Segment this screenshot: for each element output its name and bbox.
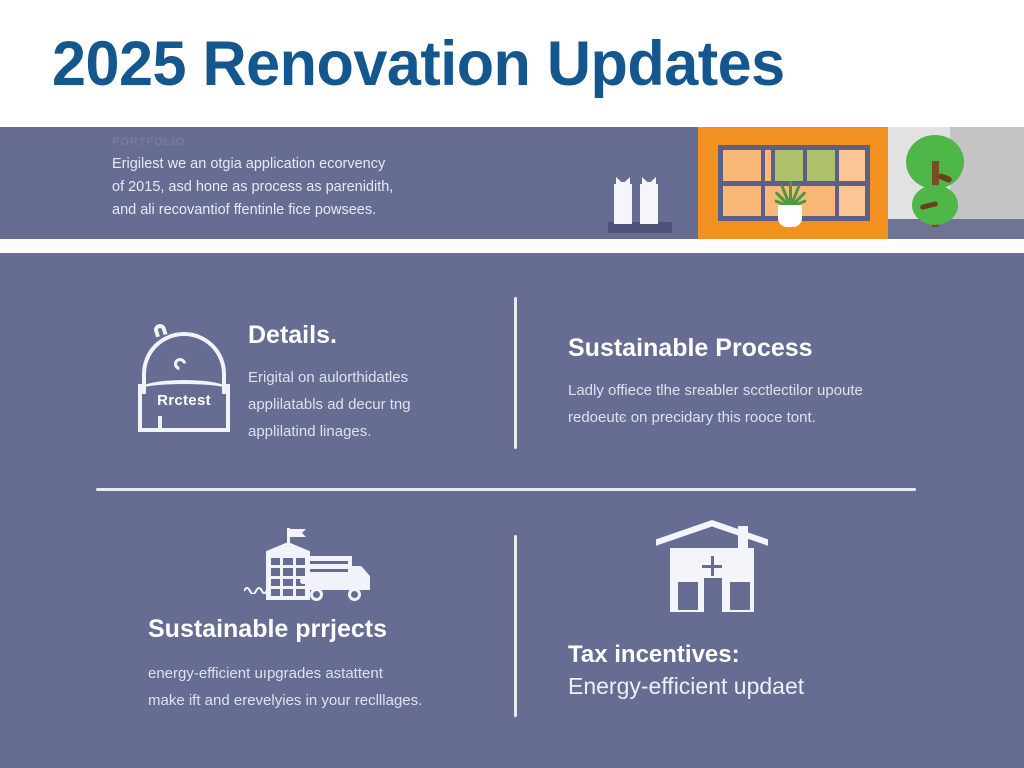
house-icon bbox=[656, 520, 768, 612]
card-process-body-line-1: Ladly offiece tlhe sreabler scctlectilor… bbox=[568, 377, 948, 404]
window-pane-green bbox=[775, 150, 803, 181]
building-windows bbox=[271, 558, 305, 596]
card-details-body-line-3: applilatind linages. bbox=[248, 418, 411, 445]
divider-horizontal bbox=[96, 488, 916, 491]
card-process-body: Ladly offiece tlhe sreabler scctlectilor… bbox=[568, 377, 948, 431]
window-pane bbox=[765, 150, 771, 181]
building-truck-icon bbox=[244, 528, 362, 606]
document-fold bbox=[158, 416, 162, 432]
card-details-heading: Details. bbox=[248, 320, 411, 350]
bottle-icon bbox=[614, 184, 632, 224]
house-window-left bbox=[678, 582, 698, 610]
card-details-body-line-1: Erigital on aulorthidatles bbox=[248, 364, 411, 391]
window-pane bbox=[839, 150, 865, 181]
truck-wheel-icon bbox=[348, 588, 361, 601]
card-projects-body: energy-efficient uıpgrades astattent mak… bbox=[148, 660, 498, 714]
banner-body: Erigilest we an otgia application ecorve… bbox=[112, 153, 532, 222]
wire-icon bbox=[244, 582, 270, 594]
divider-vertical-top bbox=[514, 297, 517, 449]
window-pane bbox=[839, 186, 865, 216]
dome-icon-label: Rrctest bbox=[134, 392, 234, 409]
banner-section: PORTFOLIO Erigilest we an otgia applicat… bbox=[0, 127, 1024, 239]
card-tax-subheading: Energy-efficient updaet bbox=[568, 670, 948, 702]
card-projects-body-line-1: energy-efficient uıpgrades astattent bbox=[148, 660, 498, 687]
banner-eyebrow: PORTFOLIO bbox=[112, 135, 532, 149]
card-projects-body-line-2: make ift and erevelyies in your reclllag… bbox=[148, 687, 498, 714]
window-pane bbox=[723, 150, 761, 181]
banner-body-line-3: and ali recovantiof ffentinle fiсe powse… bbox=[112, 199, 532, 222]
card-details-body-line-2: applilatabls ad decur tng bbox=[248, 391, 411, 418]
card-details-body: Erigital on aulorthidatles applilatabls … bbox=[248, 364, 411, 445]
card-projects-icon-wrap bbox=[244, 528, 498, 606]
card-projects-heading: Sustainable prrjects bbox=[148, 614, 498, 644]
dome-document-icon: Rrctest bbox=[138, 320, 230, 432]
title-bar: 2025 Renovation Updates bbox=[0, 0, 1024, 127]
truck-wheel-icon bbox=[310, 588, 323, 601]
flag-icon bbox=[290, 529, 306, 537]
card-tax-icon-wrap bbox=[656, 520, 948, 612]
card-sustainable-projects[interactable]: Sustainable prrjects energy-efficient uı… bbox=[148, 528, 498, 714]
bottle-icon bbox=[640, 184, 658, 224]
flag-pole-icon bbox=[287, 528, 290, 544]
plant-leaves bbox=[772, 179, 808, 207]
house-window-right bbox=[730, 582, 750, 610]
card-tax-incentives[interactable]: Tax incentives: Energy-efficient updaet bbox=[568, 520, 948, 702]
card-sustainable-process[interactable]: Sustainable Process Ladly offiece tlhe s… bbox=[568, 333, 948, 431]
plant-pot bbox=[778, 205, 802, 227]
card-tax-heading: Tax incentives: bbox=[568, 640, 948, 670]
window-pane-green bbox=[807, 150, 835, 181]
house-door-icon bbox=[704, 578, 722, 612]
slide-root: 2025 Renovation Updates PORTFOLIO Erigil… bbox=[0, 0, 1024, 768]
attic-window-icon bbox=[702, 556, 722, 576]
office-renovation-illustration bbox=[590, 127, 1024, 239]
illustration-floor bbox=[888, 219, 1024, 239]
divider-vertical-bottom bbox=[514, 535, 517, 717]
window-pane bbox=[723, 186, 761, 216]
card-process-heading: Sustainable Process bbox=[568, 333, 948, 363]
truck-bumper-icon bbox=[300, 578, 314, 584]
truck-body-icon bbox=[306, 556, 352, 590]
banner-body-line-2: of 2015, asd hone as process as parenidi… bbox=[112, 176, 532, 199]
card-details[interactable]: Rrctest Details. Erigital on aulorthidat… bbox=[138, 320, 478, 445]
banner-text-column: PORTFOLIO Erigilest we an otgia applicat… bbox=[112, 135, 532, 222]
banner-body-line-1: Erigilest we an otgia application ecorve… bbox=[112, 153, 532, 176]
card-process-body-line-2: redoeutє on precidary this rooce tont. bbox=[568, 404, 948, 431]
truck-cab-icon bbox=[348, 566, 370, 590]
page-title: 2025 Renovation Updates bbox=[52, 28, 785, 100]
